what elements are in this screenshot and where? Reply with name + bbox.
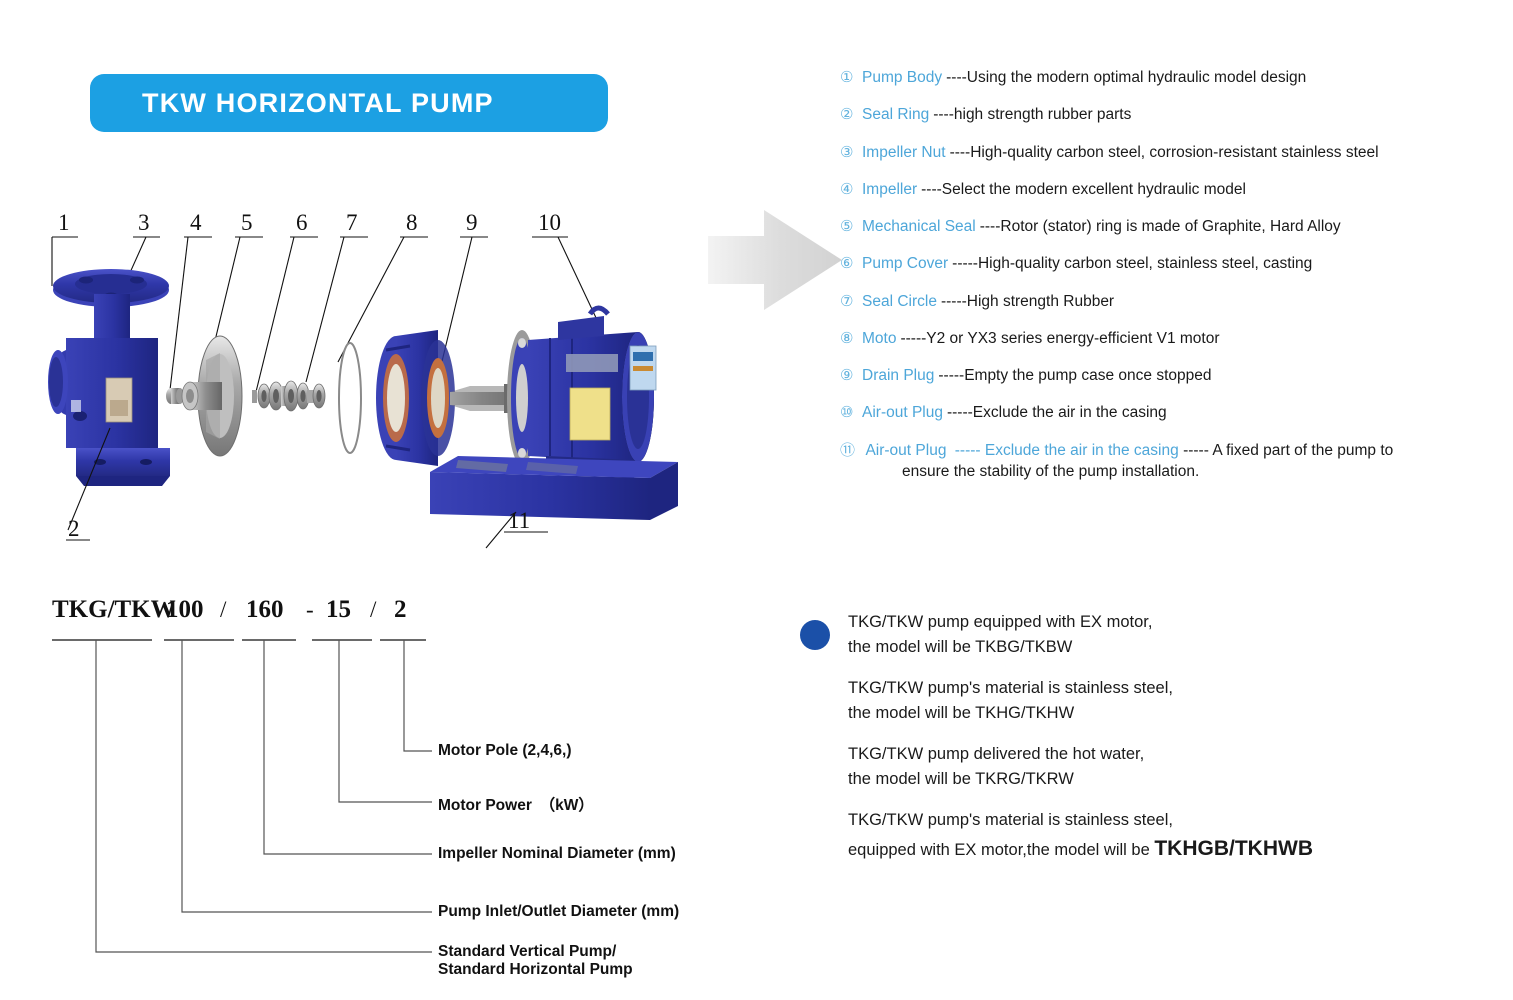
note-last-model: TKHGB/TKHWB bbox=[1154, 837, 1313, 860]
label-motor-pole: Motor Pole (2,4,6,) bbox=[438, 742, 572, 760]
label-impeller-diameter: Impeller Nominal Diameter (mm) bbox=[438, 845, 676, 863]
legend-description: Y2 or YX3 series energy-efficient V1 mot… bbox=[926, 329, 1219, 348]
note-last-prefix: equipped with EX motor,the model will be bbox=[848, 841, 1154, 859]
legend-part-name: Impeller Nut bbox=[862, 143, 946, 162]
page-title: TKW HORIZONTAL PUMP bbox=[90, 88, 494, 119]
legend-description: Using the modern optimal hydraulic model… bbox=[967, 68, 1306, 87]
note-line: TKG/TKW pump delivered the hot water, bbox=[848, 744, 1440, 765]
legend-part-name: Drain Plug bbox=[862, 366, 934, 385]
legend-description-line2: ensure the stability of the pump install… bbox=[862, 462, 1500, 481]
label-standard-pump-line1: Standard Vertical Pump/ bbox=[438, 943, 633, 961]
legend-description: Empty the pump case once stopped bbox=[964, 366, 1211, 385]
legend-description: high strength rubber parts bbox=[954, 105, 1132, 124]
note-line-last: equipped with EX motor,the model will be… bbox=[848, 835, 1440, 862]
legend-number: ⑤ bbox=[840, 218, 862, 237]
label-motor-power: Motor Power （kW） bbox=[438, 793, 594, 815]
code-impeller: 160 bbox=[246, 596, 284, 624]
legend-description: High-quality carbon steel, stainless ste… bbox=[978, 254, 1312, 273]
parts-legend: ① Pump Body ---- Using the modern optima… bbox=[840, 68, 1500, 499]
legend-separator: ---- bbox=[980, 217, 1001, 236]
code-pole: 2 bbox=[394, 596, 407, 624]
legend-item: ⑤ Mechanical Seal ---- Rotor (stator) ri… bbox=[840, 217, 1500, 237]
legend-part-name: Moto bbox=[862, 329, 896, 348]
legend-number: ② bbox=[840, 106, 862, 125]
legend-separator: ----- bbox=[900, 329, 926, 348]
svg-text:4: 4 bbox=[190, 210, 202, 235]
model-designation-diagram: TKG/TKW 100 / 160 - 15 / 2 bbox=[34, 596, 734, 966]
legend-description: Exclude the air in the casing bbox=[973, 403, 1167, 422]
legend-part-name: Seal Ring bbox=[862, 105, 929, 124]
svg-text:5: 5 bbox=[241, 210, 253, 235]
legend-description-blue: Exclude the air in the casing bbox=[985, 442, 1179, 459]
svg-text:8: 8 bbox=[406, 210, 418, 235]
svg-text:11: 11 bbox=[508, 508, 530, 533]
legend-number: ⑨ bbox=[840, 367, 862, 386]
legend-description: High strength Rubber bbox=[967, 292, 1114, 311]
bullet-icon bbox=[800, 620, 830, 650]
legend-item: ⑦ Seal Circle ----- High strength Rubber bbox=[840, 292, 1500, 312]
page-title-banner: TKW HORIZONTAL PUMP bbox=[90, 74, 608, 132]
legend-item: ④ Impeller ---- Select the modern excell… bbox=[840, 180, 1500, 200]
legend-separator: ---- bbox=[933, 105, 954, 124]
label-inlet-outlet-diameter: Pump Inlet/Outlet Diameter (mm) bbox=[438, 903, 679, 921]
svg-text:6: 6 bbox=[296, 210, 308, 235]
code-dash: - bbox=[306, 597, 314, 623]
legend-separator: ----- bbox=[941, 292, 967, 311]
note-line: the model will be TKBG/TKBW bbox=[848, 637, 1440, 658]
legend-number: ⑩ bbox=[840, 404, 862, 423]
note-line: the model will be TKRG/TKRW bbox=[848, 769, 1440, 790]
legend-separator: ----- bbox=[938, 366, 964, 385]
legend-description: Select the modern excellent hydraulic mo… bbox=[942, 180, 1246, 199]
svg-text:9: 9 bbox=[466, 210, 478, 235]
code-inlet: 100 bbox=[166, 596, 204, 624]
svg-text:1: 1 bbox=[58, 210, 70, 235]
svg-text:3: 3 bbox=[138, 210, 150, 235]
code-slash-2: / bbox=[370, 597, 376, 623]
legend-part-name: Seal Circle bbox=[862, 292, 937, 311]
legend-item: ⑥ Pump Cover ----- High-quality carbon s… bbox=[840, 254, 1500, 274]
label-standard-pump: Standard Vertical Pump/ Standard Horizon… bbox=[438, 943, 633, 979]
legend-part-name: Impeller bbox=[862, 180, 917, 199]
code-series: TKG/TKW bbox=[52, 596, 176, 624]
label-standard-pump-line2: Standard Horizontal Pump bbox=[438, 961, 633, 979]
note-line: the model will be TKHG/TKHW bbox=[848, 703, 1440, 724]
legend-separator: ----- bbox=[952, 254, 978, 273]
code-power: 15 bbox=[326, 596, 351, 624]
legend-part-name: Mechanical Seal bbox=[862, 217, 976, 236]
exploded-pump-diagram: 1 3 4 5 6 7 8 9 10 bbox=[38, 210, 708, 565]
legend-number: ⑦ bbox=[840, 293, 862, 312]
legend-description: Rotor (stator) ring is made of Graphite,… bbox=[1000, 217, 1340, 236]
legend-item: ⑧ Moto ----- Y2 or YX3 series energy-eff… bbox=[840, 329, 1500, 349]
legend-separator: ----- bbox=[947, 403, 973, 422]
legend-separator: ---- bbox=[921, 180, 942, 199]
legend-separator: ----- bbox=[955, 442, 981, 459]
legend-part-name: Pump Cover bbox=[862, 254, 948, 273]
legend-item: ③ Impeller Nut ---- High-quality carbon … bbox=[840, 143, 1500, 163]
legend-item: ② Seal Ring ---- high strength rubber pa… bbox=[840, 105, 1500, 125]
note-line: TKG/TKW pump's material is stainless ste… bbox=[848, 678, 1440, 699]
legend-separator: ---- bbox=[950, 143, 971, 162]
legend-item: ⑨ Drain Plug ----- Empty the pump case o… bbox=[840, 366, 1500, 386]
legend-part-name: Air-out Plug bbox=[862, 403, 943, 422]
model-variants-notes: TKG/TKW pump equipped with EX motor, the… bbox=[800, 612, 1440, 881]
svg-text:7: 7 bbox=[346, 210, 358, 235]
legend-number: ④ bbox=[840, 181, 862, 200]
legend-number: ③ bbox=[840, 144, 862, 163]
legend-item: ① Pump Body ---- Using the modern optima… bbox=[840, 68, 1500, 88]
legend-separator-2: ----- bbox=[1183, 442, 1209, 459]
legend-separator: ---- bbox=[946, 68, 967, 87]
svg-text:10: 10 bbox=[538, 210, 561, 235]
legend-number: ⑥ bbox=[840, 255, 862, 274]
svg-text:2: 2 bbox=[68, 516, 80, 541]
note-line: TKG/TKW pump equipped with EX motor, bbox=[848, 612, 1440, 633]
legend-number: ⑪ bbox=[840, 442, 862, 461]
note-line: TKG/TKW pump's material is stainless ste… bbox=[848, 810, 1440, 831]
flow-arrow-icon bbox=[706, 200, 856, 320]
legend-item: ⑩ Air-out Plug ----- Exclude the air in … bbox=[840, 403, 1500, 423]
code-slash-1: / bbox=[220, 597, 226, 623]
legend-item: ⑪ Air-out Plug ----- Exclude the air in … bbox=[840, 441, 1500, 482]
legend-description: High-quality carbon steel, corrosion-res… bbox=[970, 143, 1378, 162]
legend-number: ⑧ bbox=[840, 330, 862, 349]
legend-description: A fixed part of the pump to bbox=[1212, 442, 1393, 459]
legend-part-name: Air-out Plug bbox=[865, 442, 946, 459]
legend-number: ① bbox=[840, 69, 862, 88]
legend-part-name: Pump Body bbox=[862, 68, 942, 87]
